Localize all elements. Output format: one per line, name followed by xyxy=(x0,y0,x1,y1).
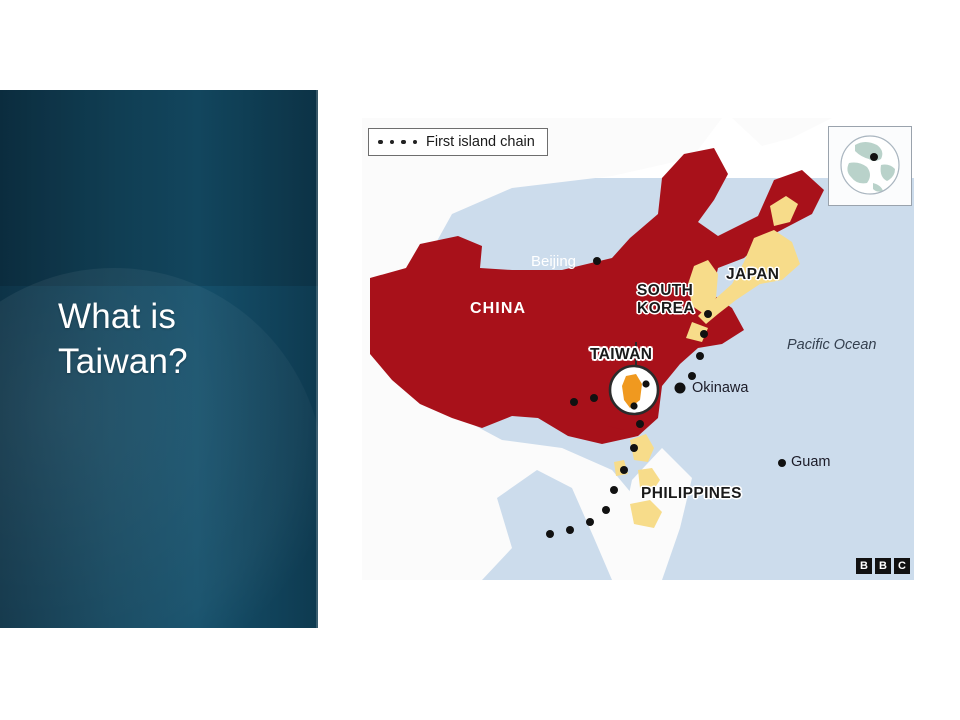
bbc-logo: B B C xyxy=(856,558,910,574)
globe-locator-inset xyxy=(828,126,912,206)
panel-top-band xyxy=(0,90,318,286)
panel-right-edge xyxy=(316,90,318,628)
page-title: What is Taiwan? xyxy=(58,295,308,385)
bbc-letter-b1: B xyxy=(856,558,872,574)
guam-dot xyxy=(778,459,786,467)
legend-dot xyxy=(401,140,406,145)
legend-dot xyxy=(413,140,418,145)
legend-dot xyxy=(378,140,383,145)
map-legend: First island chain xyxy=(368,128,548,156)
legend-dot xyxy=(390,140,395,145)
beijing-dot xyxy=(593,257,601,265)
slide-title-panel: What is Taiwan? xyxy=(0,90,318,628)
legend-dot-group xyxy=(378,140,417,145)
bbc-letter-b2: B xyxy=(875,558,891,574)
globe-location-marker xyxy=(870,153,878,161)
bbc-map-figure: First island chain CHINA Beijing JAPAN S… xyxy=(362,118,914,580)
bbc-letter-c: C xyxy=(894,558,910,574)
legend-label: First island chain xyxy=(426,134,535,150)
globe-icon xyxy=(829,127,911,205)
